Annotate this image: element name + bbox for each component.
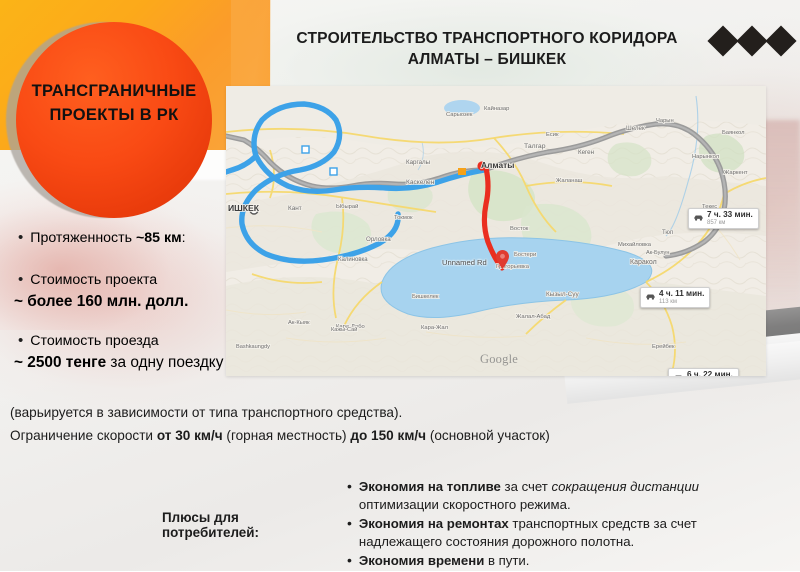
map-city-label: Жалал-Абад <box>516 314 551 320</box>
benefit-time-bold: Экономия времени <box>359 553 484 568</box>
route-duration: 6 ч. 22 мин. <box>687 371 733 376</box>
benefit-fuel-bold: Экономия на топливе <box>359 479 501 494</box>
bullet-dot: • <box>18 230 23 245</box>
map-city-label: Калиновка <box>338 257 368 263</box>
map-city-label: Сарыозек <box>446 112 473 118</box>
bullet-dot: • <box>18 333 23 348</box>
bullet-dot: • <box>18 272 23 287</box>
bullet-dot: • <box>347 515 352 550</box>
list-item: • Экономия на ремонтах транспортных сред… <box>347 515 796 550</box>
diamond-icon <box>736 25 767 56</box>
map-city-label: Михайловка <box>618 241 652 248</box>
car-icon <box>693 212 704 223</box>
fact-cost-label: Стоимость проекта <box>30 272 157 288</box>
car-icon <box>673 372 684 376</box>
map-city-label: Кара-Жал <box>421 325 448 331</box>
fact-fare-label: Стоимость проезда <box>30 333 158 349</box>
map-city-label: Кайназар <box>484 105 509 112</box>
map-city-label: Восток <box>510 226 529 232</box>
list-item: • Стоимость проезда <box>18 333 274 349</box>
map-city-label: ИШКЕК <box>228 203 260 213</box>
speed-limit-suffix: (основной участок) <box>426 428 550 443</box>
map-city-label: Кызыл-Суу <box>546 291 580 298</box>
map-city-label: Жаланаш <box>556 178 583 184</box>
benefits-label: Плюсы для потребителей: <box>162 478 337 572</box>
map-image[interactable]: АлматыИШКЕКТалгарКаскеленКаргалыКантЫбыр… <box>226 86 766 376</box>
map-city-label: Ерейбек <box>652 343 675 350</box>
map-provider-logo: Google <box>480 352 518 367</box>
fact-length-tail: : <box>182 230 186 246</box>
fact-length-value: ~85 км <box>136 230 182 246</box>
speed-limit-prefix: Ограничение скорости <box>10 428 157 443</box>
route-duration: 4 ч. 11 мин. <box>659 290 704 298</box>
benefit-fuel-italic: сокращения дистанции <box>551 479 699 494</box>
map-city-label: Каскелен <box>406 179 435 186</box>
route-bubble[interactable]: 4 ч. 11 мин. 113 км <box>640 287 710 308</box>
note-line-2: Ограничение скорости от 30 км/ч (горная … <box>10 429 800 443</box>
map-city-label: Каракол <box>630 259 657 266</box>
map-city-label: Ак-Булун <box>646 250 669 256</box>
page-title-line-1: СТРОИТЕЛЬСТВО ТРАНСПОРТНОГО КОРИДОРА <box>252 28 722 49</box>
bullet-dot: • <box>347 552 352 570</box>
map-marker-label: Unnamed Rd <box>442 258 487 267</box>
map-city-label: Есик <box>546 132 559 138</box>
map-city-label: Баянкол <box>722 130 744 136</box>
map-city-label: Шелек <box>626 125 645 132</box>
benefit-time-plain: в пути. <box>484 553 529 568</box>
benefit-repair-bold: Экономия на ремонтах <box>359 516 509 531</box>
bullet-dot: • <box>347 478 352 513</box>
diamond-icon <box>765 25 796 56</box>
speed-limit-max: до 150 км/ч <box>350 428 426 443</box>
route-duration: 7 ч. 33 мин. <box>707 211 753 219</box>
list-item: • Протяженность ~85 км: <box>18 230 274 246</box>
list-item: • Экономия на топливе за счет сокращения… <box>347 478 796 513</box>
decor-diamonds <box>712 30 792 52</box>
badge-line-1: ТРАНСГРАНИЧНЫЕ <box>16 80 212 104</box>
notes-paragraph: (варьируется в зависимости от типа транс… <box>10 406 800 453</box>
facts-list: • Протяженность ~85 км: • Стоимость прое… <box>14 230 274 372</box>
fact-fare-value: ~ 2500 тенге <box>14 354 106 371</box>
badge-text: ТРАНСГРАНИЧНЫЕ ПРОЕКТЫ В РК <box>16 80 212 128</box>
benefit-fuel-line2: оптимизации скоростного режима. <box>359 497 571 512</box>
badge-line-2: ПРОЕКТЫ В РК <box>16 104 212 128</box>
list-item: • Экономия времени в пути. <box>347 552 796 570</box>
page-title: СТРОИТЕЛЬСТВО ТРАНСПОРТНОГО КОРИДОРА АЛМ… <box>252 28 722 70</box>
diamond-icon <box>707 25 738 56</box>
route-distance: 857 км <box>707 220 753 226</box>
route-bubble[interactable]: 7 ч. 33 мин. 857 км <box>688 208 759 229</box>
map-pin-icon[interactable] <box>496 250 509 269</box>
fact-fare-tail: за одну поездку <box>106 354 223 371</box>
benefit-repair-line2: надлежащего состояния дорожного полотна. <box>359 534 634 549</box>
map-city-label: Тюп <box>662 230 673 236</box>
map-city-label: Бишкелек <box>412 294 439 300</box>
map-city-label: Алматы <box>481 160 514 170</box>
map-city-label: Каргалы <box>406 159 431 166</box>
speed-limit-min: от 30 км/ч <box>157 428 223 443</box>
route-distance: 113 км <box>659 299 704 305</box>
benefits-list: • Экономия на топливе за счет сокращения… <box>347 478 796 572</box>
map-city-label: Нарынкол <box>692 154 719 160</box>
map-city-label: Чарын <box>656 118 674 124</box>
note-line-1: (варьируется в зависимости от типа транс… <box>10 406 800 420</box>
slide-canvas: ☼ △ ☐ 🎥 ТРАНСГРАНИЧНЫЕ ПРОЕКТЫ В РК СТРО… <box>0 0 800 571</box>
map-city-label: Токмок <box>394 215 413 221</box>
map-city-label: Кеген <box>578 149 594 156</box>
map-city-label: Орловка <box>366 236 391 243</box>
benefit-repair-plain: транспортных средств за счет <box>509 516 697 531</box>
speed-limit-mid: (горная местность) <box>223 428 351 443</box>
fact-cost-value: ~ более 160 млн. долл. <box>14 293 274 311</box>
map-canvas: АлматыИШКЕКТалгарКаскеленКаргалыКантЫбыр… <box>226 86 766 376</box>
page-title-line-2: АЛМАТЫ – БИШКЕК <box>252 49 722 70</box>
map-city-label: Бостери <box>514 252 536 258</box>
car-icon <box>645 291 656 302</box>
list-item: • Стоимость проекта <box>18 272 274 288</box>
map-city-label: Ыбырай <box>336 203 358 210</box>
fact-length-label: Протяженность <box>30 230 136 246</box>
map-city-label: Кажы-Сай <box>331 326 357 333</box>
map-city-label: Талгар <box>524 143 546 150</box>
benefit-fuel-plain: за счет <box>501 479 552 494</box>
benefits-section: Плюсы для потребителей: • Экономия на то… <box>162 478 796 572</box>
map-city-label: Жаркент <box>724 170 748 176</box>
route-bubble[interactable]: 6 ч. 22 мин. 473 км <box>668 368 739 376</box>
map-city-label: Кант <box>288 205 302 212</box>
map-city-label: Ак-Кыяк <box>288 320 310 326</box>
